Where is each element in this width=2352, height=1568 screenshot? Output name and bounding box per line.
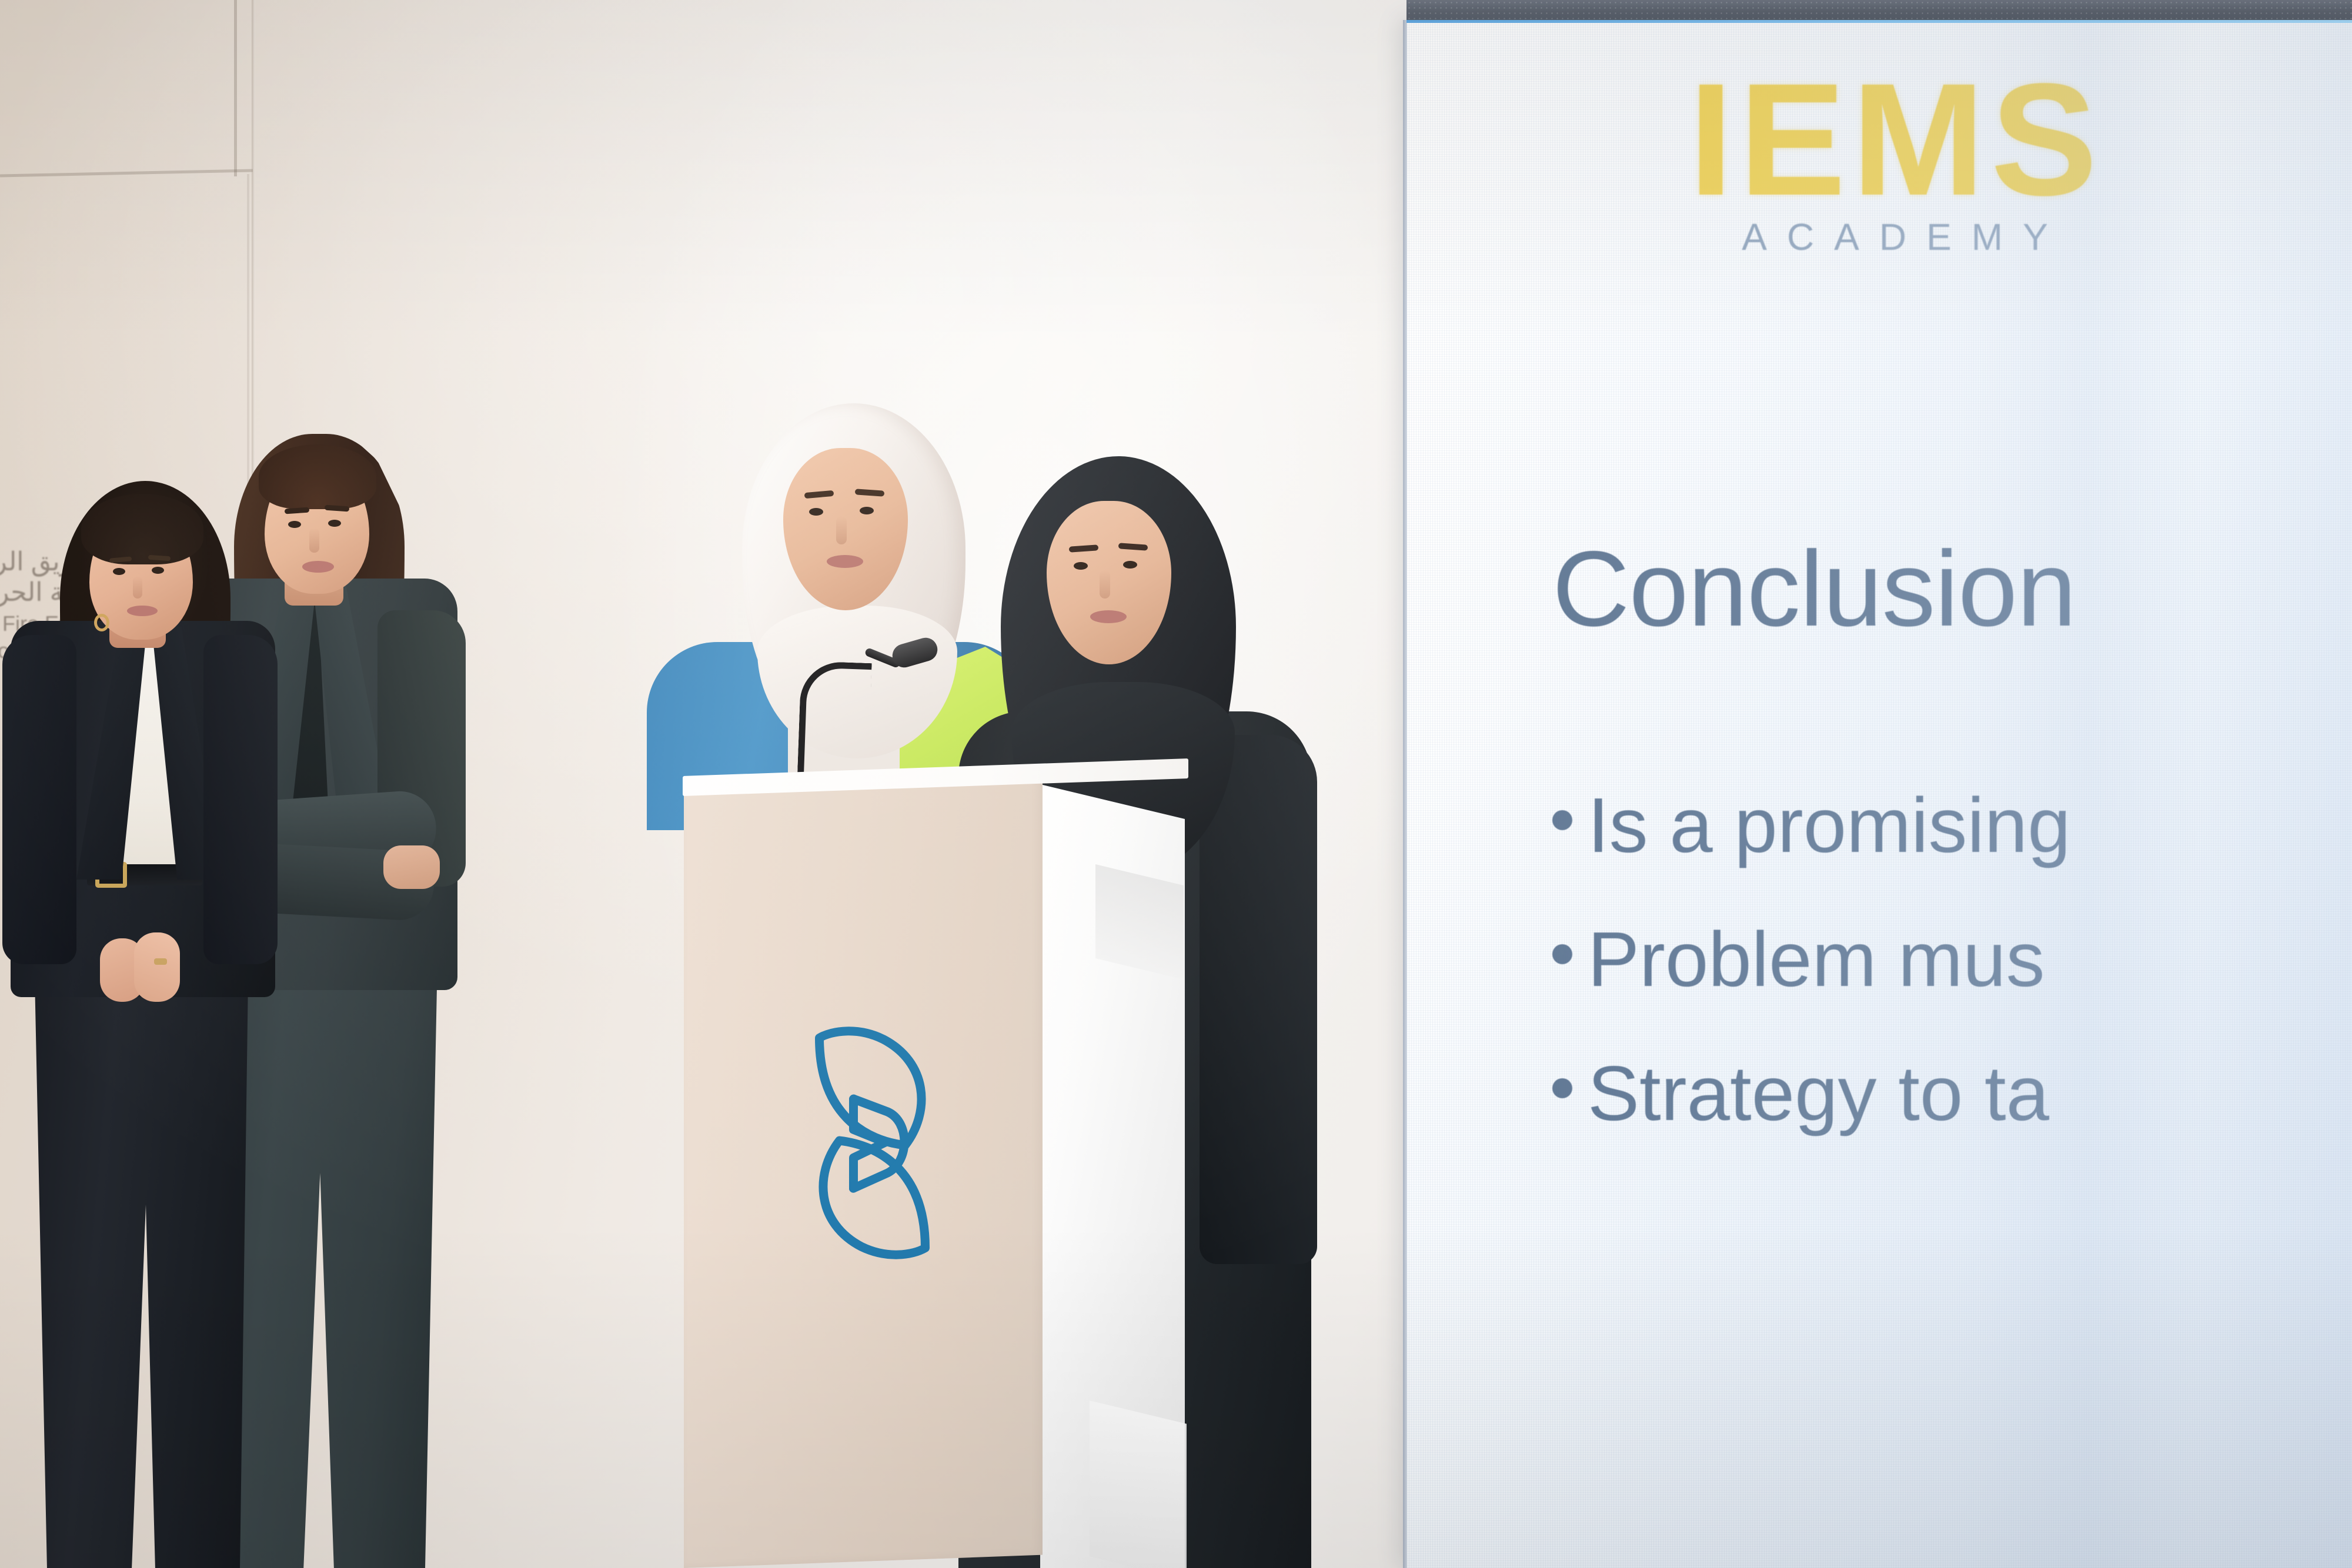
eye-left: [1074, 562, 1088, 570]
arm-right: [203, 635, 278, 964]
hand: [383, 845, 440, 889]
screen-bezel: [1406, 0, 2352, 21]
projection-screen: IEMS ACADEMY Conclusion Is a promising P…: [1406, 20, 2352, 1568]
iems-academy-logo: IEMS ACADEMY: [1689, 66, 2103, 259]
bullet-item-1: Is a promising: [1552, 784, 2352, 867]
nose: [836, 516, 847, 544]
arm-left: [2, 635, 76, 964]
eye-right: [152, 567, 164, 574]
mouth: [127, 606, 158, 616]
screen-top-accent-line: [1406, 20, 2352, 23]
nose: [133, 576, 142, 599]
hair-front: [81, 494, 203, 564]
eye-left: [809, 508, 823, 516]
academy-wordmark: ACADEMY: [1689, 215, 2103, 259]
abaya-sleeve: [1200, 735, 1317, 1264]
wall-seam-vertical: [234, 0, 237, 176]
ring: [154, 958, 167, 965]
b-monogram-logo-icon: [783, 1022, 962, 1263]
nose: [1100, 570, 1110, 599]
bullet-text-3: Strategy to ta: [1588, 1052, 2049, 1135]
mouth: [827, 555, 863, 568]
eye-right: [1123, 561, 1137, 569]
eye-left: [113, 568, 125, 575]
iems-wordmark: IEMS: [1689, 66, 2103, 213]
presenter-1: [6, 488, 312, 1568]
presentation-photo: مخرج حريق الرجاء عدم اعاقة الحركة Fire E…: [0, 0, 2352, 1568]
mouth: [1090, 610, 1127, 623]
slide-bullet-list: Is a promising Problem mus Strategy to t…: [1552, 784, 2352, 1186]
bullet-dot-icon: [1552, 810, 1572, 830]
eye-right: [860, 507, 874, 514]
eye-right: [328, 520, 341, 527]
hand-right: [134, 932, 180, 1002]
bullet-dot-icon: [1552, 1078, 1572, 1098]
hoop-earring: [94, 614, 109, 631]
bullet-text-2: Problem mus: [1588, 918, 2045, 1001]
slide-title: Conclusion: [1552, 527, 2076, 650]
bullet-item-3: Strategy to ta: [1552, 1052, 2352, 1135]
lectern: [684, 760, 1184, 1568]
bullet-text-1: Is a promising: [1588, 784, 2071, 867]
lectern-side-box: [1090, 1400, 1187, 1568]
bullet-dot-icon: [1552, 944, 1572, 964]
slide: IEMS ACADEMY Conclusion Is a promising P…: [1406, 20, 2352, 1568]
bullet-item-2: Problem mus: [1552, 918, 2352, 1001]
screen-left-edge: [1403, 20, 1407, 1568]
